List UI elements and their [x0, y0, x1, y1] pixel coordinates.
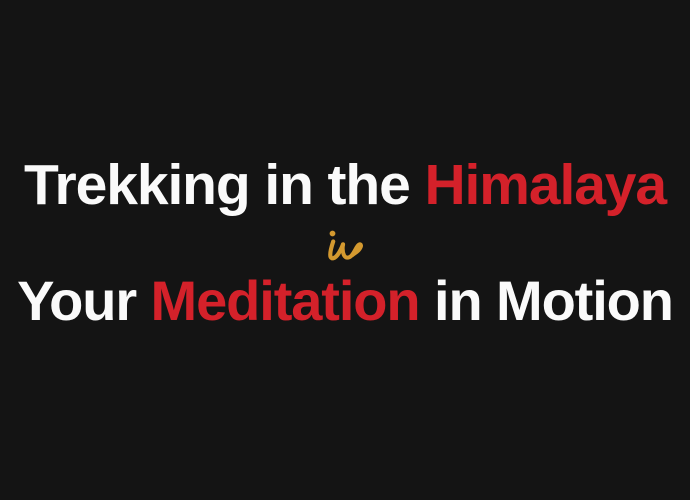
quote-line-2: Your Meditation in Motion: [17, 272, 673, 329]
quote-line-1-segment-highlight: Himalaya: [424, 153, 666, 217]
script-is-icon: [323, 228, 367, 264]
quote-line-1: Trekking in the Himalaya: [24, 156, 666, 214]
quote-line-2-segment-white-lead: Your: [17, 269, 150, 332]
quote-connector: is: [323, 222, 367, 266]
quote-line-1-segment-white: Trekking in the: [24, 153, 425, 217]
quote-line-2-segment-highlight: Meditation: [151, 269, 420, 332]
quote-banner: Trekking in the Himalaya is Your Meditat…: [0, 0, 690, 500]
quote-stack: Trekking in the Himalaya is Your Meditat…: [0, 156, 690, 329]
quote-line-2-segment-white-tail: in Motion: [420, 269, 673, 332]
